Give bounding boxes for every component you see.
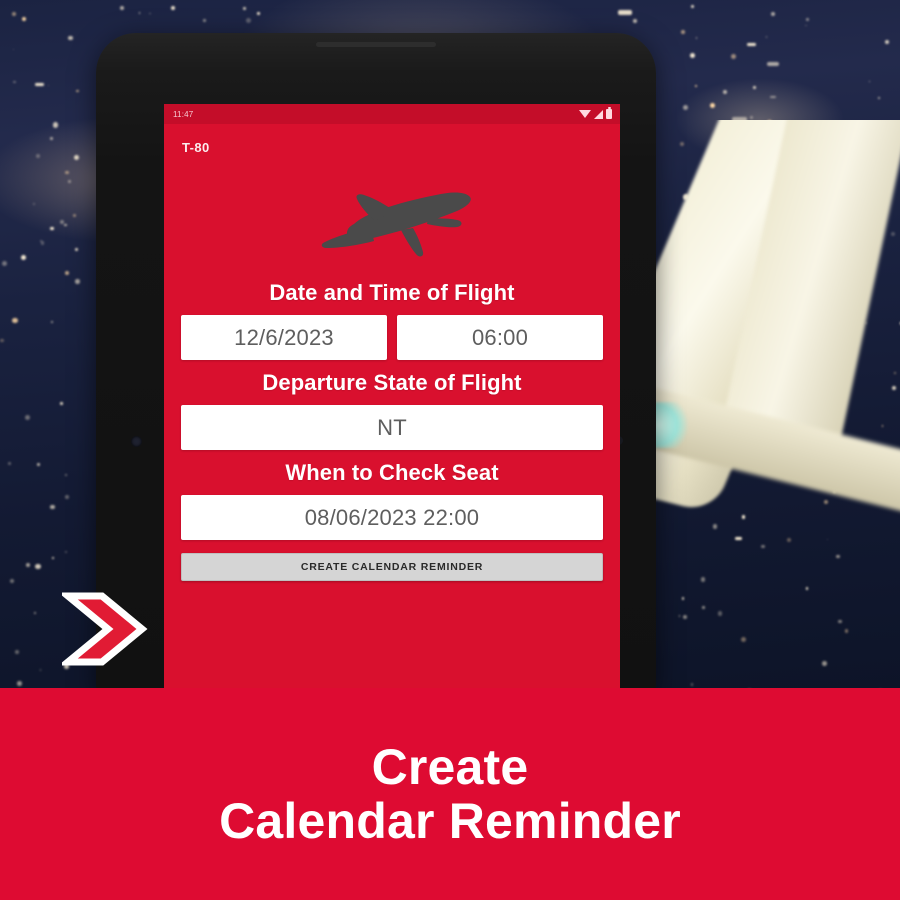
date-time-row: 12/6/2023 06:00 (181, 315, 603, 360)
wifi-icon (579, 110, 591, 118)
front-camera-icon (131, 436, 142, 447)
check-seat-row: 08/06/2023 22:00 (181, 495, 603, 540)
label-departure-state-of-flight: Departure State of Flight (181, 370, 603, 396)
status-bar-system-icons (579, 109, 612, 119)
status-bar: 11:47 (164, 104, 620, 124)
signal-icon (594, 110, 603, 119)
battery-icon (606, 109, 612, 119)
label-date-time-of-flight: Date and Time of Flight (181, 280, 603, 306)
app-bar: T-80 (164, 124, 620, 170)
chevron-right-icon (62, 592, 148, 666)
banner-line-1: Create (372, 740, 529, 794)
app-screen: 11:47 T-80 (164, 104, 620, 693)
banner-line-2: Calendar Reminder (219, 794, 681, 848)
check-seat-datetime-input[interactable]: 08/06/2023 22:00 (181, 495, 603, 540)
label-when-to-check-seat: When to Check Seat (181, 460, 603, 486)
create-calendar-reminder-button[interactable]: CREATE CALENDAR REMINDER (181, 553, 603, 581)
bottom-banner: Create Calendar Reminder (0, 688, 900, 900)
tablet-device-frame: 11:47 T-80 (96, 33, 656, 693)
app-title: T-80 (182, 140, 210, 155)
reminder-form: Date and Time of Flight 12/6/2023 06:00 … (164, 280, 620, 581)
airplane-takeoff-icon (297, 178, 487, 266)
status-bar-clock: 11:47 (173, 110, 193, 119)
departure-state-input[interactable]: NT (181, 405, 603, 450)
hero-illustration (164, 174, 620, 270)
flight-date-input[interactable]: 12/6/2023 (181, 315, 387, 360)
device-speaker-grille (316, 42, 436, 47)
departure-state-row: NT (181, 405, 603, 450)
flight-time-input[interactable]: 06:00 (397, 315, 603, 360)
